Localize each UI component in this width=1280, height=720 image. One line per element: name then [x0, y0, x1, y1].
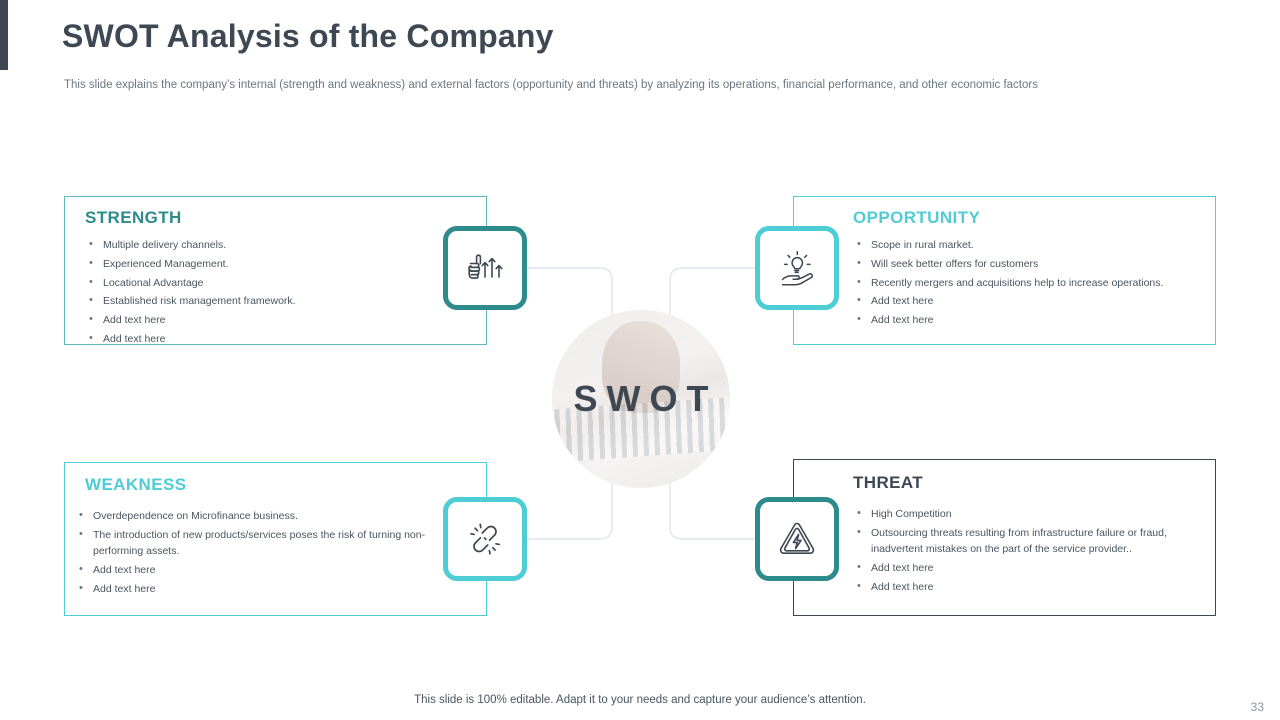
broken-chain-icon-glyph — [463, 517, 507, 561]
list-item: Add text here — [77, 581, 457, 597]
page-number: 33 — [1251, 700, 1264, 714]
list-item: Scope in rural market. — [855, 237, 1185, 253]
fist-arrows-icon-glyph — [463, 246, 507, 290]
list-item: Add text here — [855, 579, 1185, 595]
list-item: Add text here — [855, 312, 1185, 328]
list-item: Established risk management framework. — [87, 293, 457, 309]
quadrant-strength-bullets: Multiple delivery channels. Experienced … — [87, 237, 457, 350]
quadrant-weakness-bullets: Overdependence on Microfinance business.… — [77, 508, 457, 599]
title-accent-bar — [0, 0, 8, 70]
swot-center-label: SWOT — [565, 378, 718, 420]
list-item: Add text here — [87, 312, 457, 328]
quadrant-weakness-heading: WEAKNESS — [85, 475, 186, 495]
quadrant-threat[interactable]: THREAT High Competition Outsourcing thre… — [793, 459, 1216, 616]
quadrant-opportunity[interactable]: OPPORTUNITY Scope in rural market. Will … — [793, 196, 1216, 345]
warning-triangle-icon[interactable] — [755, 497, 839, 581]
fist-arrows-icon[interactable] — [443, 226, 527, 310]
list-item: Experienced Management. — [87, 256, 457, 272]
page-title: SWOT Analysis of the Company — [62, 18, 554, 55]
list-item: Add text here — [87, 331, 457, 347]
quadrant-strength-heading: STRENGTH — [85, 208, 182, 228]
quadrant-opportunity-bullets: Scope in rural market. Will seek better … — [855, 237, 1185, 331]
list-item: Outsourcing threats resulting from infra… — [855, 525, 1185, 558]
list-item: Multiple delivery channels. — [87, 237, 457, 253]
warning-triangle-icon-glyph — [775, 517, 819, 561]
quadrant-weakness[interactable]: WEAKNESS Overdependence on Microfinance … — [64, 462, 487, 616]
list-item: Locational Advantage — [87, 275, 457, 291]
list-item: Will seek better offers for customers — [855, 256, 1185, 272]
list-item: The introduction of new products/service… — [77, 527, 457, 560]
lightbulb-hand-icon-glyph — [775, 246, 819, 290]
list-item: High Competition — [855, 506, 1185, 522]
list-item: Add text here — [855, 293, 1185, 309]
list-item: Overdependence on Microfinance business. — [77, 508, 457, 524]
list-item: Recently mergers and acquisitions help t… — [855, 275, 1185, 291]
list-item: Add text here — [855, 560, 1185, 576]
broken-chain-icon[interactable] — [443, 497, 527, 581]
list-item: Add text here — [77, 562, 457, 578]
swot-slide: SWOT Analysis of the Company This slide … — [0, 0, 1280, 720]
quadrant-threat-bullets: High Competition Outsourcing threats res… — [855, 506, 1185, 597]
quadrant-threat-heading: THREAT — [853, 473, 923, 493]
swot-center-circle: SWOT — [552, 310, 730, 488]
footer-note: This slide is 100% editable. Adapt it to… — [0, 694, 1280, 706]
quadrant-opportunity-heading: OPPORTUNITY — [853, 208, 980, 228]
lightbulb-hand-icon[interactable] — [755, 226, 839, 310]
quadrant-strength[interactable]: STRENGTH Multiple delivery channels. Exp… — [64, 196, 487, 345]
page-subtitle: This slide explains the company’s intern… — [64, 77, 1164, 93]
